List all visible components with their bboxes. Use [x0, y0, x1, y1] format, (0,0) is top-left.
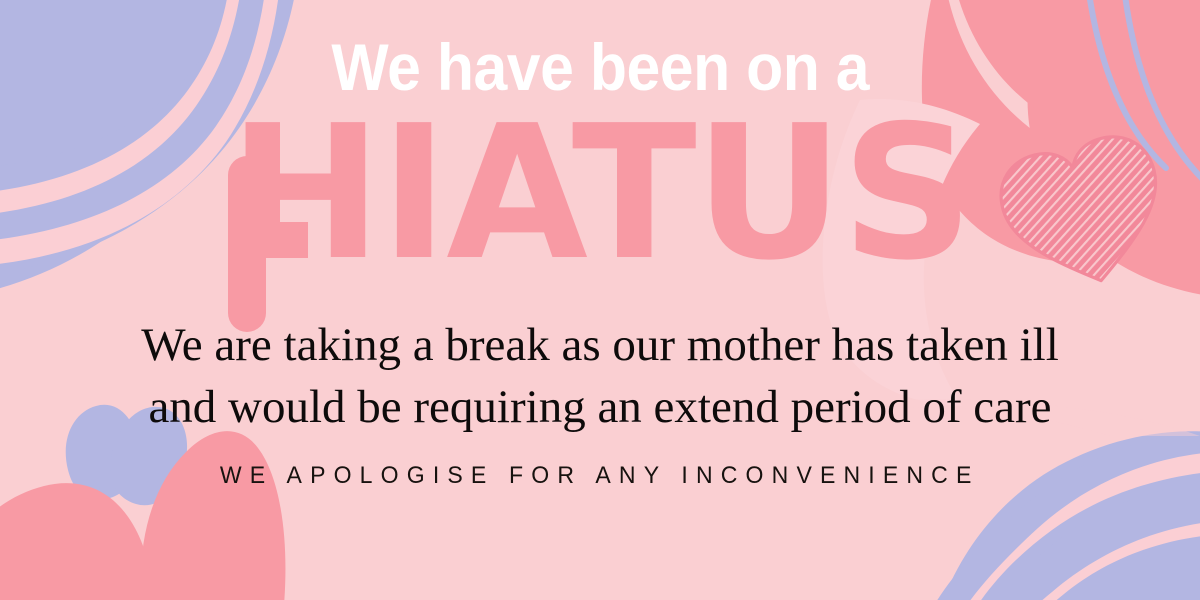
apology-tagline: WE APOLOGISE FOR ANY INCONVENIENCE: [220, 462, 980, 490]
body-message: We are taking a break as our mother has …: [141, 314, 1059, 438]
body-line-1: We are taking a break as our mother has …: [141, 314, 1059, 376]
page-title: HIATUS: [229, 108, 972, 278]
poster-content: We have been on a HIATUS We are taking a…: [0, 0, 1200, 600]
body-line-2: and would be requiring an extend period …: [141, 376, 1059, 438]
hiatus-announcement-poster: We have been on a HIATUS We are taking a…: [0, 0, 1200, 600]
